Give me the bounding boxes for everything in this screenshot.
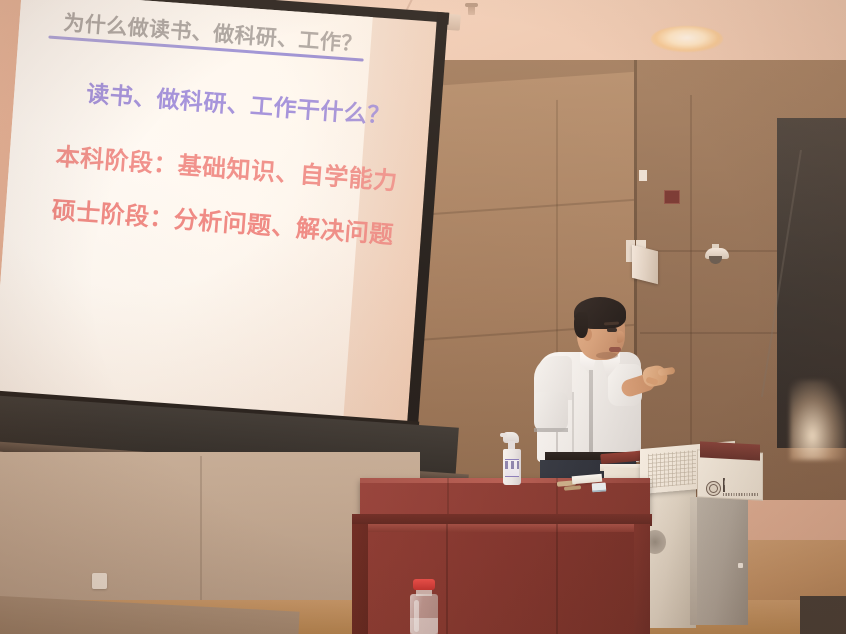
lectern-grille [648, 450, 696, 488]
wall-plate [639, 170, 647, 181]
table-face-seam [556, 524, 558, 634]
wall-panel-seam [690, 95, 692, 495]
wall-outlet-icon[interactable] [92, 573, 107, 589]
university-name-calligraphy [723, 478, 761, 492]
screen-vignette [0, 0, 437, 423]
sleeve-hem [534, 428, 568, 432]
shirt-sleeve-left [534, 392, 568, 432]
table-bevel [366, 524, 636, 532]
eye [607, 328, 617, 332]
spray-bottle-nozzle [500, 433, 507, 437]
table-corner-left [352, 524, 368, 634]
table-corner-right [634, 524, 650, 634]
lectern-latch[interactable] [738, 563, 743, 568]
projection-screen[interactable]: 为什么做读书、做科研、工作？ 读书、做科研、工作干什么？ 本科阶段：基础知识、自… [0, 0, 449, 448]
wall-speaker-icon [632, 245, 658, 284]
table-top-seam [447, 478, 449, 518]
university-name-english [723, 493, 759, 496]
floor-shadow-right [800, 596, 846, 634]
hair-side [574, 312, 588, 338]
front-table-body [366, 524, 636, 634]
lectern-body-edge [690, 497, 697, 625]
spray-bottle-label-text [505, 461, 519, 469]
chin-shadow [596, 352, 618, 359]
exit-sign-icon [664, 190, 680, 204]
lectern-body[interactable] [690, 497, 748, 625]
shirt-fold [572, 392, 574, 458]
university-seal-inner [709, 484, 718, 493]
shirt-placket [589, 370, 593, 462]
water-bottle-sheen [414, 600, 419, 632]
downlight-icon [651, 26, 723, 52]
sprinkler-head-icon [468, 3, 475, 15]
table-face-seam [446, 524, 448, 634]
lectern-top-trim [700, 441, 760, 460]
lecture-hall-photo: 为什么做读书、做科研、工作？ 读书、做科研、工作干什么？ 本科阶段：基础知识、自… [0, 0, 846, 634]
whiteboard-eraser[interactable] [592, 483, 607, 493]
water-bottle-cap[interactable] [413, 579, 435, 590]
window-glow [790, 380, 846, 460]
